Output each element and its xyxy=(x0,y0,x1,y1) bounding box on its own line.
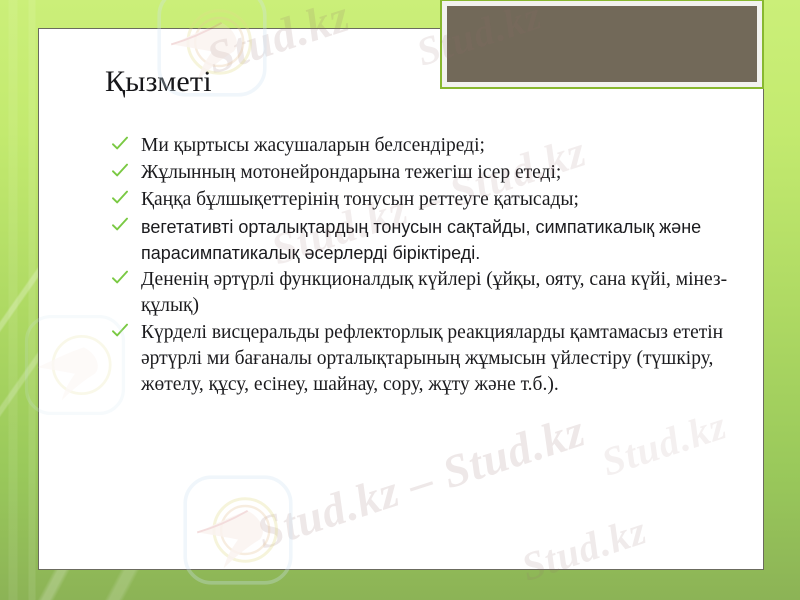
list-item-label: Күрделі висцеральды рефлекторлық реакция… xyxy=(141,322,723,395)
list-item-label: Қаңқа бұлшықеттерінің тонусын реттеуге қ… xyxy=(141,189,579,210)
list-item: Ми қыртысы жасушаларын белсендіреді; xyxy=(105,133,745,159)
page-title: Қызметі xyxy=(105,65,435,98)
list-item: Дененің әртүрлі функционалдық күйлері (ұ… xyxy=(105,267,745,319)
list-item: Жұлынның мотонейрондарына тежегіш ісер е… xyxy=(105,160,745,186)
check-icon xyxy=(111,216,129,236)
list-item-label: Жұлынның мотонейрондарына тежегіш ісер е… xyxy=(141,162,561,183)
check-icon xyxy=(111,189,129,209)
list-item: Күрделі висцеральды рефлекторлық реакция… xyxy=(105,320,745,398)
list-item: Қаңқа бұлшықеттерінің тонусын реттеуге қ… xyxy=(105,187,745,213)
check-icon xyxy=(111,162,129,182)
bullet-list: Ми қыртысы жасушаларын белсендіреді; Жұл… xyxy=(105,133,745,399)
check-icon xyxy=(111,322,129,342)
check-icon xyxy=(111,269,129,289)
list-item-label: Дененің әртүрлі функционалдық күйлері (ұ… xyxy=(141,269,727,316)
slide-content-panel: Қызметі Ми қыртысы жасушаларын белсендір… xyxy=(38,28,764,570)
check-icon xyxy=(111,135,129,155)
presentation-slide: Қызметі Ми қыртысы жасушаларын белсендір… xyxy=(0,0,800,600)
list-item: вегетативті орталықтардың тонусын сақтай… xyxy=(105,214,745,266)
list-item-label: вегетативті орталықтардың тонусын сақтай… xyxy=(141,217,701,263)
list-item-label: Ми қыртысы жасушаларын белсендіреді; xyxy=(141,135,485,156)
picture-placeholder[interactable] xyxy=(442,1,762,87)
